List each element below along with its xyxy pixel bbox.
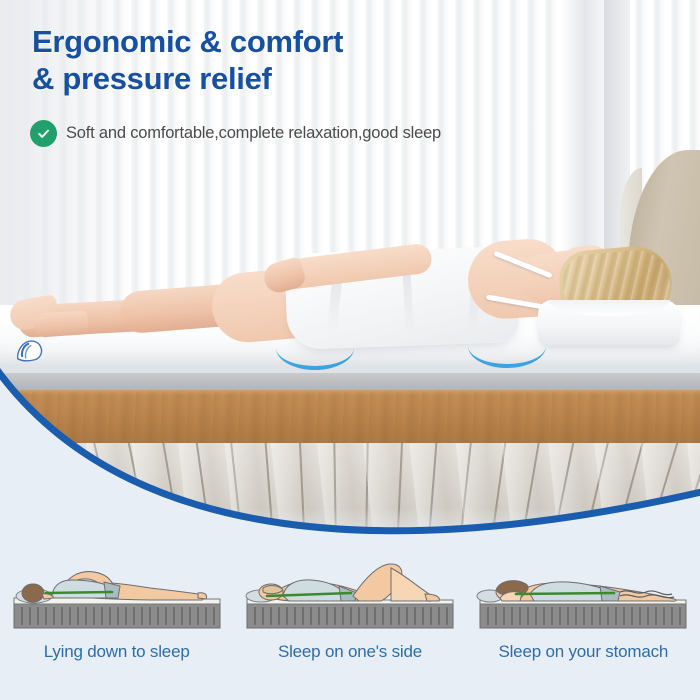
panel-stomach-sleeping: Sleep on your stomach (467, 548, 700, 700)
sleep-position-panels: Lying down to sleep (0, 548, 700, 700)
feature-bullet-text: Soft and comfortable,complete relaxation… (66, 124, 441, 143)
side-sleeper-illustration (241, 552, 459, 636)
bed-frame (0, 387, 700, 443)
panel-caption: Sleep on one's side (278, 642, 422, 662)
figure-foot (33, 310, 89, 338)
page-title: Ergonomic & comfort & pressure relief (32, 24, 343, 97)
feature-bullet: Soft and comfortable,complete relaxation… (30, 120, 441, 147)
brand-logo-icon (12, 336, 48, 364)
supine-sleeper-illustration (8, 552, 226, 636)
panel-back-sleeping: Lying down to sleep (0, 548, 233, 700)
prone-sleeper-illustration (474, 552, 692, 636)
hero-bottom-fade (0, 508, 700, 548)
product-infographic: Ergonomic & comfort & pressure relief So… (0, 0, 700, 700)
check-circle-icon (30, 120, 57, 147)
panel-caption: Sleep on your stomach (498, 642, 668, 662)
panel-side-sleeping: Sleep on one's side (233, 548, 466, 700)
panel-caption: Lying down to sleep (44, 642, 190, 662)
